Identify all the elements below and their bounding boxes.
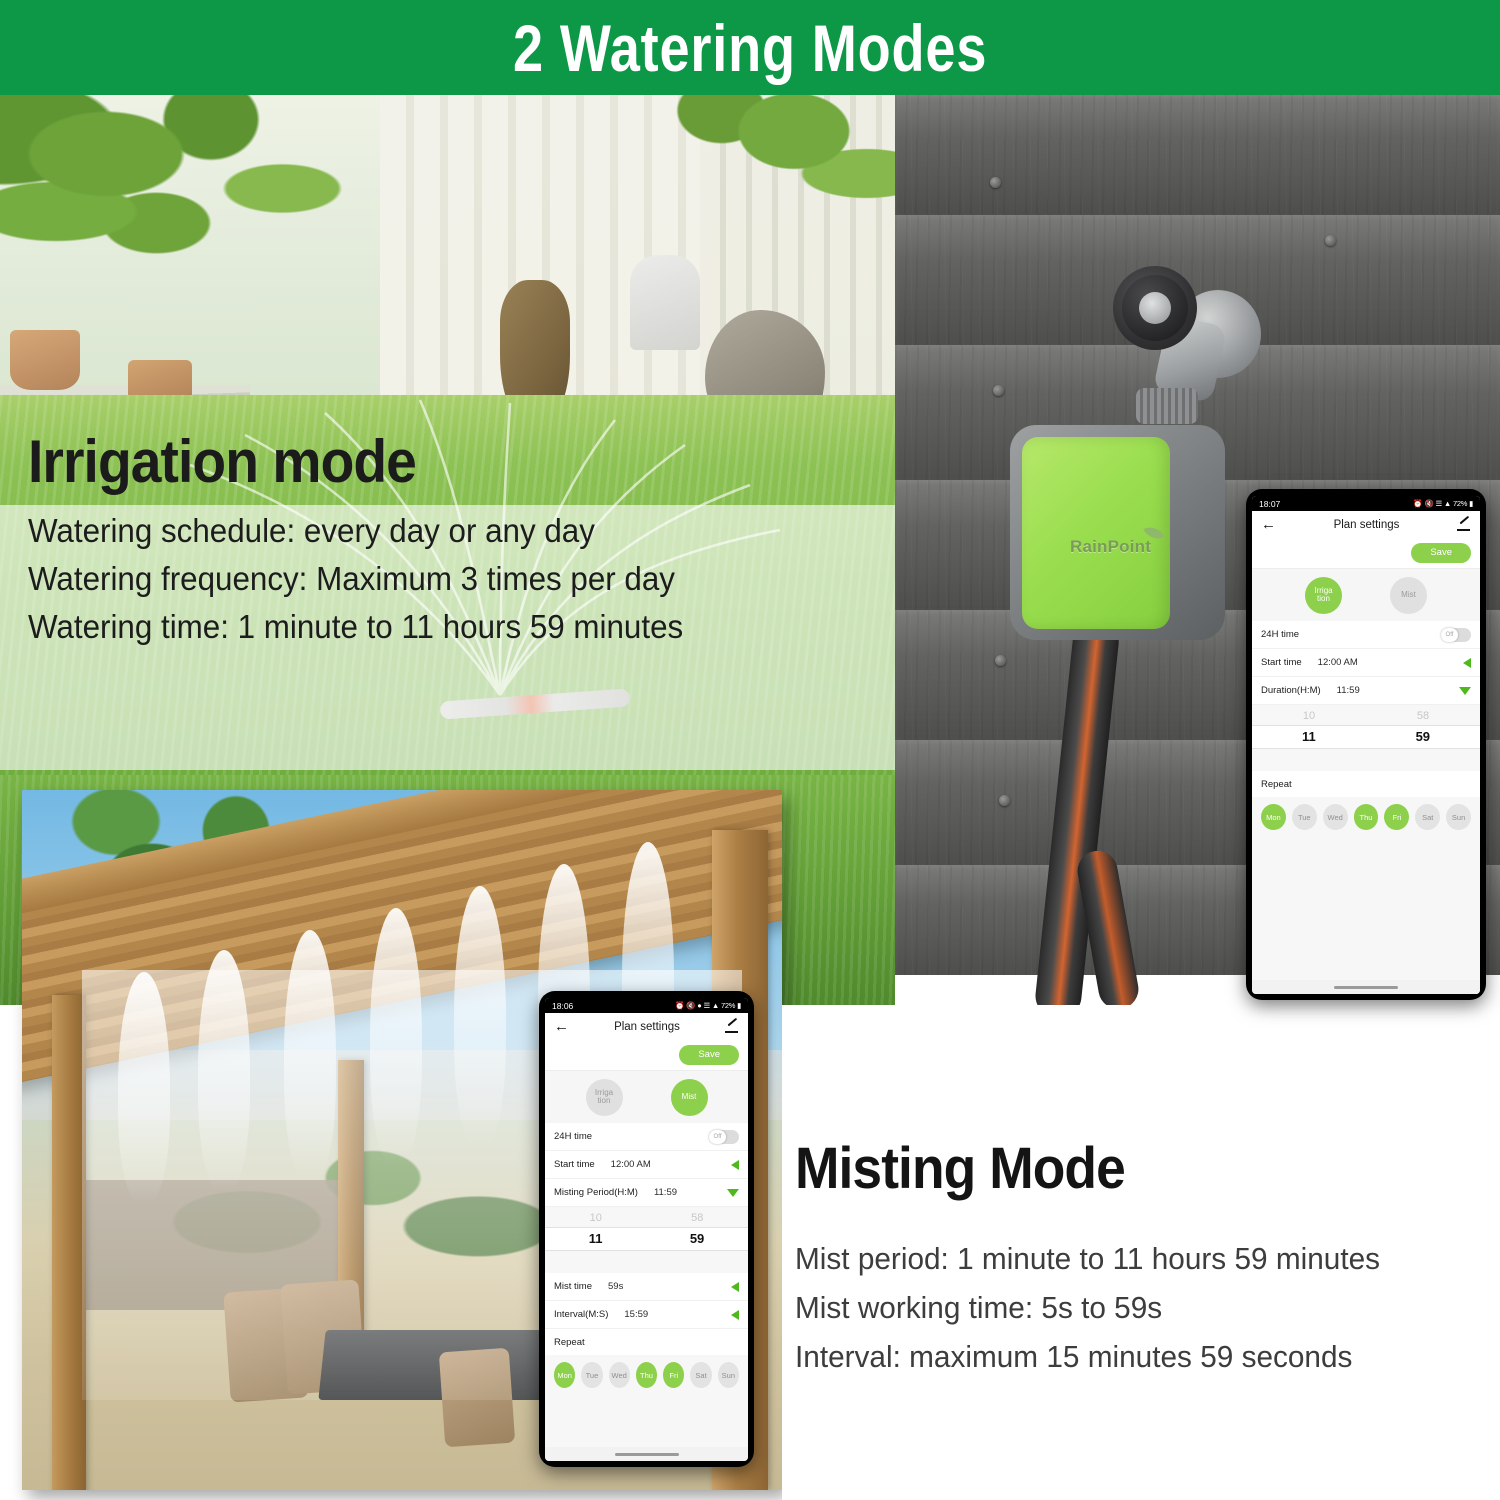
24h-time-toggle[interactable]: Off [709, 1130, 739, 1144]
battery-percent: 72% [1453, 499, 1467, 508]
day-chip-tue[interactable]: Tue [1292, 804, 1317, 830]
mode-selector: Irriga tion Mist [545, 1070, 748, 1123]
day-chip-sat[interactable]: Sat [690, 1362, 711, 1388]
system-nav-bar [545, 1447, 748, 1461]
screw-head [999, 795, 1010, 806]
tree-foliage-left [0, 95, 400, 315]
phone-mockup-irrigation: 18:07 ⏰ 🔇 ☰ ▲ 72% ▮ ← Plan settings Save [1246, 489, 1486, 1000]
caret-left-icon[interactable] [731, 1160, 739, 1170]
day-chip-fri[interactable]: Fri [1384, 804, 1409, 830]
picker-selected-row[interactable]: 11 59 [545, 1227, 748, 1251]
device-brand-label: RainPoint [1070, 537, 1151, 557]
day-chip-fri[interactable]: Fri [663, 1362, 684, 1388]
app-screen-irrigation: 18:07 ⏰ 🔇 ☰ ▲ 72% ▮ ← Plan settings Save [1252, 496, 1480, 994]
row-label: 24H time [1261, 629, 1299, 640]
picker-minutes-selected: 59 [1416, 729, 1430, 744]
picker-minutes-selected: 59 [690, 1231, 704, 1246]
mute-icon: 🔇 [1424, 499, 1433, 508]
alarm-icon: ⏰ [675, 1001, 684, 1010]
home-indicator[interactable] [1334, 986, 1398, 989]
phone-mockup-misting: 18:06 ⏰ 🔇 ● ☰ ▲ 72% ▮ ← Plan settings Sa… [539, 991, 754, 1467]
hose-coupler-nut [1136, 388, 1198, 424]
row-label: Mist time [554, 1281, 592, 1292]
wood-plank [895, 95, 1500, 218]
row-interval[interactable]: Interval(M:S) 15:59 [545, 1301, 748, 1329]
misting-spec-list: Mist period: 1 minute to 11 hours 59 min… [795, 1235, 1495, 1382]
save-row: Save [545, 1040, 748, 1070]
row-24h-time[interactable]: 24H time Off [1252, 621, 1480, 649]
picker-dim-row[interactable]: 10 58 [1252, 705, 1480, 725]
home-indicator[interactable] [615, 1453, 679, 1456]
row-start-time[interactable]: Start time 12:00 AM [1252, 649, 1480, 677]
battery-icon: ▮ [1469, 499, 1473, 508]
wifi-icon: ☰ [703, 1001, 709, 1010]
row-value: 12:00 AM [1318, 657, 1358, 668]
caret-left-icon[interactable] [731, 1282, 739, 1292]
screw-head [995, 655, 1006, 666]
misting-period-picker[interactable]: 10 58 11 59 [545, 1207, 748, 1273]
picker-dim-row[interactable]: 10 58 [545, 1207, 748, 1227]
app-bar: ← Plan settings [545, 1013, 748, 1040]
irrigation-spec-line: Watering time: 1 minute to 11 hours 59 m… [28, 603, 845, 651]
day-chip-wed[interactable]: Wed [609, 1362, 630, 1388]
pencil-icon[interactable] [725, 1020, 739, 1034]
screw-head [990, 177, 1001, 188]
status-bar: 18:06 ⏰ 🔇 ● ☰ ▲ 72% ▮ [545, 998, 748, 1013]
day-chip-sun[interactable]: Sun [1446, 804, 1471, 830]
row-value: 15:59 [624, 1309, 648, 1320]
irrigation-spec-line: Watering schedule: every day or any day [28, 507, 845, 555]
picker-hours-selected: 11 [589, 1231, 603, 1246]
row-label: Start time [554, 1159, 595, 1170]
irrigation-heading: Irrigation mode [28, 430, 819, 493]
misting-spec-line: Mist period: 1 minute to 11 hours 59 min… [795, 1235, 1467, 1284]
screen-title: Plan settings [1276, 519, 1457, 531]
row-duration[interactable]: Duration(H:M) 11:59 [1252, 677, 1480, 705]
status-icons: ⏰ 🔇 ● ☰ ▲ 72% ▮ [675, 1001, 741, 1010]
row-value: 11:59 [1337, 685, 1360, 696]
row-mist-time[interactable]: Mist time 59s [545, 1273, 748, 1301]
status-time: 18:07 [1259, 499, 1280, 509]
mode-selector: Irriga tion Mist [1252, 568, 1480, 621]
app-bar: ← Plan settings [1252, 511, 1480, 538]
page-title: 2 Watering Modes [513, 10, 987, 86]
planter-pot-1 [10, 330, 80, 390]
mode-chip-irrigation[interactable]: Irriga tion [1305, 577, 1342, 614]
row-misting-period[interactable]: Misting Period(H:M) 11:59 [545, 1179, 748, 1207]
product-infographic: 2 Watering Modes [0, 0, 1500, 1500]
mode-chip-mist[interactable]: Mist [1390, 577, 1427, 614]
mode-chip-mist[interactable]: Mist [671, 1079, 708, 1116]
caret-left-icon[interactable] [731, 1310, 739, 1320]
signal-icon: ▲ [712, 1001, 719, 1010]
24h-time-toggle[interactable]: Off [1441, 628, 1471, 642]
day-chip-wed[interactable]: Wed [1323, 804, 1348, 830]
row-value: 59s [608, 1281, 623, 1292]
mute-icon: 🔇 [686, 1001, 695, 1010]
save-button[interactable]: Save [679, 1045, 739, 1065]
toggle-knob: Off [709, 1130, 726, 1144]
status-bar: 18:07 ⏰ 🔇 ☰ ▲ 72% ▮ [1252, 496, 1480, 511]
picker-hours-selected: 11 [1302, 729, 1316, 744]
screw-head [993, 385, 1004, 396]
row-value: 12:00 AM [611, 1159, 651, 1170]
caret-left-icon[interactable] [1463, 658, 1471, 668]
tree-foliage-right [620, 95, 895, 250]
repeat-day-selector: Mon Tue Wed Thu Fri Sat Sun [1252, 797, 1480, 830]
misting-heading: Misting Mode [795, 1135, 1125, 1202]
day-chip-thu[interactable]: Thu [636, 1362, 657, 1388]
picker-selected-row[interactable]: 11 59 [1252, 725, 1480, 749]
screw-head [1325, 235, 1336, 246]
pergola-post-left [52, 995, 86, 1490]
repeat-label: Repeat [545, 1329, 748, 1355]
signal-icon: ▲ [1444, 499, 1451, 508]
day-chip-mon[interactable]: Mon [1261, 804, 1286, 830]
patio-chair [630, 255, 700, 350]
picker-minutes-dim: 58 [691, 1212, 703, 1224]
mode-chip-irrigation[interactable]: Irriga tion [586, 1079, 623, 1116]
misting-spec-line: Mist working time: 5s to 59s [795, 1284, 1467, 1333]
app-screen-misting: 18:06 ⏰ 🔇 ● ☰ ▲ 72% ▮ ← Plan settings Sa… [545, 998, 748, 1461]
day-chip-tue[interactable]: Tue [581, 1362, 602, 1388]
row-label: Interval(M:S) [554, 1309, 608, 1320]
row-label: Duration(H:M) [1261, 685, 1321, 696]
wifi-icon: ☰ [1435, 499, 1441, 508]
day-chip-mon[interactable]: Mon [554, 1362, 575, 1388]
screen-title: Plan settings [569, 1021, 725, 1033]
row-label: Start time [1261, 657, 1302, 668]
picker-hours-dim: 10 [1303, 710, 1315, 722]
repeat-label: Repeat [1252, 771, 1480, 797]
misting-spec-line: Interval: maximum 15 minutes 59 seconds [795, 1333, 1467, 1382]
irrigation-text-block: Irrigation mode Watering schedule: every… [28, 430, 888, 652]
row-label: Misting Period(H:M) [554, 1187, 638, 1198]
save-button[interactable]: Save [1411, 543, 1471, 563]
location-icon: ● [697, 1001, 701, 1010]
irrigation-spec-line: Watering frequency: Maximum 3 times per … [28, 555, 845, 603]
row-value: 11:59 [654, 1187, 677, 1198]
alarm-icon: ⏰ [1413, 499, 1422, 508]
save-row: Save [1252, 538, 1480, 568]
picker-minutes-dim: 58 [1417, 710, 1429, 722]
status-icons: ⏰ 🔇 ☰ ▲ 72% ▮ [1413, 499, 1473, 508]
row-start-time[interactable]: Start time 12:00 AM [545, 1151, 748, 1179]
screen-filler [545, 1388, 748, 1447]
repeat-day-selector: Mon Tue Wed Thu Fri Sat Sun [545, 1355, 748, 1388]
day-chip-sat[interactable]: Sat [1415, 804, 1440, 830]
caret-down-icon[interactable] [727, 1189, 739, 1197]
status-time: 18:06 [552, 1001, 573, 1011]
day-chip-thu[interactable]: Thu [1354, 804, 1379, 830]
caret-down-icon[interactable] [1459, 687, 1471, 695]
day-chip-sun[interactable]: Sun [718, 1362, 739, 1388]
water-timer-device: RainPoint [1010, 425, 1225, 640]
row-label: 24H time [554, 1131, 592, 1142]
battery-percent: 72% [721, 1001, 735, 1010]
row-24h-time[interactable]: 24H time Off [545, 1123, 748, 1151]
picker-hours-dim: 10 [590, 1212, 602, 1224]
pencil-icon[interactable] [1457, 518, 1471, 532]
irrigation-spec-list: Watering schedule: every day or any day … [28, 507, 888, 652]
picker-padding [1252, 749, 1480, 771]
toggle-knob: Off [1441, 628, 1458, 642]
faucet-handle [1113, 266, 1197, 350]
back-arrow-icon[interactable]: ← [1261, 517, 1276, 532]
system-nav-bar [1252, 980, 1480, 994]
back-arrow-icon[interactable]: ← [554, 1019, 569, 1034]
duration-picker[interactable]: 10 58 11 59 [1252, 705, 1480, 771]
picker-padding [545, 1251, 748, 1273]
battery-icon: ▮ [737, 1001, 741, 1010]
header-banner: 2 Watering Modes [0, 0, 1500, 95]
screen-filler [1252, 830, 1480, 980]
